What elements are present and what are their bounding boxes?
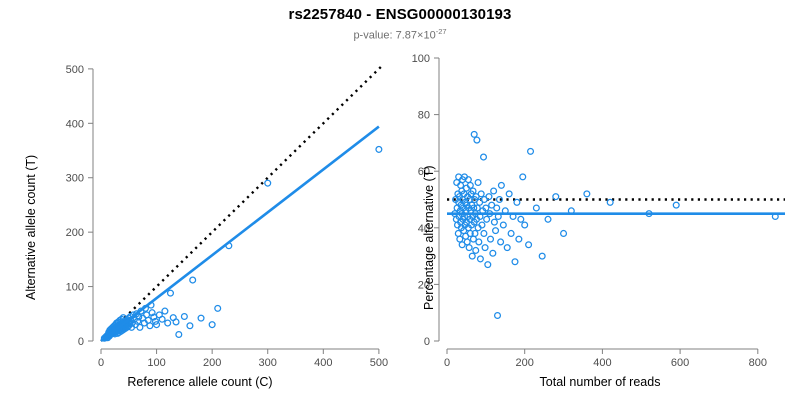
scatter-point bbox=[491, 188, 497, 194]
scatter-point bbox=[498, 239, 504, 245]
scatter-point bbox=[526, 242, 532, 248]
scatter-point bbox=[495, 313, 501, 319]
y-axis-tick-label: 0 bbox=[424, 336, 430, 348]
x-axis-tick-label: 100 bbox=[147, 357, 165, 369]
x-axis-tick-label: 0 bbox=[98, 357, 104, 369]
scatter-point bbox=[506, 191, 512, 197]
scatter-point bbox=[561, 231, 567, 237]
x-axis-tick-label: 0 bbox=[444, 357, 450, 369]
scatter-point bbox=[376, 147, 382, 153]
scatter-point bbox=[493, 228, 499, 234]
scatter-point bbox=[168, 290, 174, 296]
scatter-point bbox=[486, 194, 492, 200]
y-axis-tick-label: 300 bbox=[66, 173, 84, 185]
scatter-point bbox=[209, 322, 215, 328]
scatter-point bbox=[508, 231, 514, 237]
y-axis-tick-label: 80 bbox=[418, 110, 430, 122]
scatter-point bbox=[466, 245, 472, 251]
scatter-point bbox=[520, 174, 526, 180]
scatter-point bbox=[198, 315, 204, 321]
y-axis-label-left: Alternative allele count (T) bbox=[24, 155, 38, 300]
scatter-point bbox=[476, 239, 482, 245]
scatter-point bbox=[457, 236, 463, 242]
scatter-point bbox=[539, 253, 545, 259]
scatter-point bbox=[607, 199, 613, 205]
y-axis-label-right: Percentage alternative (T) bbox=[422, 165, 436, 310]
scatter-point bbox=[147, 323, 153, 329]
scatter-point bbox=[187, 323, 193, 329]
scatter-point bbox=[518, 216, 524, 222]
scatter-points-group bbox=[452, 132, 778, 319]
scatter-point bbox=[190, 277, 196, 283]
x-axis-tick-label: 500 bbox=[370, 357, 388, 369]
scatter-point bbox=[481, 231, 487, 237]
scatter-point bbox=[159, 316, 165, 322]
scatter-point bbox=[265, 180, 271, 186]
scatter-point bbox=[488, 236, 494, 242]
y-axis-tick-label: 400 bbox=[66, 118, 84, 130]
scatter-points-group bbox=[101, 147, 381, 342]
x-axis-tick-label: 400 bbox=[314, 357, 332, 369]
scatter-point bbox=[494, 205, 500, 211]
scatter-point bbox=[473, 248, 479, 254]
scatter-point bbox=[475, 180, 481, 186]
figure-container: rs2257840 - ENSG00000130193 p-value: 7.8… bbox=[0, 0, 800, 400]
scatter-point bbox=[173, 319, 179, 325]
scatter-point bbox=[464, 239, 470, 245]
x-axis-tick-label: 600 bbox=[671, 357, 689, 369]
scatter-point bbox=[181, 314, 187, 320]
scatter-point bbox=[512, 259, 518, 265]
scatter-point bbox=[490, 250, 496, 256]
scatter-point bbox=[516, 236, 522, 242]
scatter-point bbox=[478, 256, 484, 262]
scatter-point bbox=[484, 216, 490, 222]
scatter-point bbox=[469, 253, 475, 259]
scatter-point bbox=[478, 191, 484, 197]
x-axis-tick-label: 300 bbox=[259, 357, 277, 369]
scatter-point bbox=[215, 305, 221, 311]
x-axis-tick-label: 200 bbox=[516, 357, 534, 369]
y-axis-tick-label: 200 bbox=[66, 227, 84, 239]
reference-dotted-line bbox=[101, 66, 382, 341]
scatter-point bbox=[498, 182, 504, 188]
scatter-point bbox=[528, 148, 534, 154]
scatter-point bbox=[514, 199, 520, 205]
x-axis-tick-label: 400 bbox=[593, 357, 611, 369]
panel-percentage-alternative: 0204060801000200400600800 Total number o… bbox=[400, 0, 800, 400]
percentage-alternative-scatter-plot: 0204060801000200400600800 bbox=[400, 0, 800, 400]
scatter-point bbox=[673, 202, 679, 208]
x-axis-tick-label: 200 bbox=[203, 357, 221, 369]
scatter-point bbox=[533, 205, 539, 211]
fit-line bbox=[101, 127, 379, 341]
panel-allele-count: 01002003004005000100200300400500 Referen… bbox=[0, 0, 400, 400]
scatter-point bbox=[474, 137, 480, 143]
scatter-point bbox=[553, 194, 559, 200]
scatter-point bbox=[176, 332, 182, 338]
allele-count-scatter-plot: 01002003004005000100200300400500 bbox=[0, 0, 400, 400]
y-axis-tick-label: 500 bbox=[66, 64, 84, 76]
scatter-point bbox=[584, 191, 590, 197]
scatter-point bbox=[165, 320, 171, 326]
scatter-point bbox=[522, 222, 528, 228]
y-axis-tick-label: 100 bbox=[66, 282, 84, 294]
scatter-point bbox=[162, 308, 168, 314]
scatter-point bbox=[545, 216, 551, 222]
scatter-point bbox=[471, 132, 477, 138]
x-axis-label-left: Reference allele count (C) bbox=[0, 375, 400, 389]
scatter-point bbox=[504, 245, 510, 251]
scatter-point bbox=[500, 222, 506, 228]
x-axis-tick-label: 800 bbox=[749, 357, 767, 369]
scatter-point bbox=[492, 219, 498, 225]
x-axis-label-right: Total number of reads bbox=[400, 375, 800, 389]
y-axis-tick-label: 0 bbox=[78, 336, 84, 348]
scatter-point bbox=[482, 245, 488, 251]
scatter-point bbox=[485, 262, 491, 268]
y-axis-tick-label: 100 bbox=[412, 53, 430, 65]
scatter-point bbox=[481, 154, 487, 160]
